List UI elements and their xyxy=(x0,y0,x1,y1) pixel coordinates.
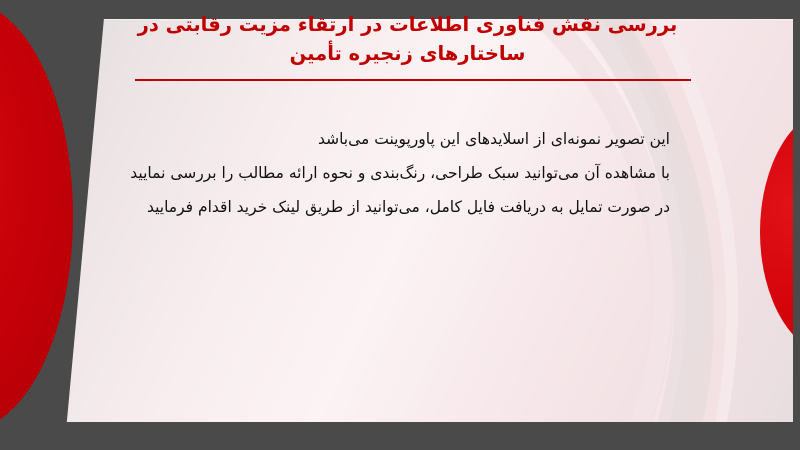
presentation-slide: بررسی نقش فناوری اطلاعات در ارتقاء مزیت … xyxy=(0,0,800,450)
slide-body-line-2: با مشاهده آن می‌توانید سبک طراحی، رنگ‌بن… xyxy=(110,156,670,190)
frame-top-band xyxy=(0,0,800,10)
slide-body-line-1: این تصویر نمونه‌ای از اسلایدهای این پاور… xyxy=(110,122,670,156)
slide-body-line-3: در صورت تمایل به دریافت فایل کامل، می‌تو… xyxy=(110,190,670,224)
frame-right-band xyxy=(793,0,800,450)
frame-bottom-band xyxy=(0,422,800,450)
slide-title-line-2: ساختارهای زنجیره تأمین xyxy=(120,39,695,68)
title-underline xyxy=(135,79,691,81)
slide-body: این تصویر نمونه‌ای از اسلایدهای این پاور… xyxy=(110,122,670,224)
slide-title-line-1: بررسی نقش فناوری اطلاعات در ارتقاء مزیت … xyxy=(120,10,695,39)
slide-title: بررسی نقش فناوری اطلاعات در ارتقاء مزیت … xyxy=(120,10,695,68)
